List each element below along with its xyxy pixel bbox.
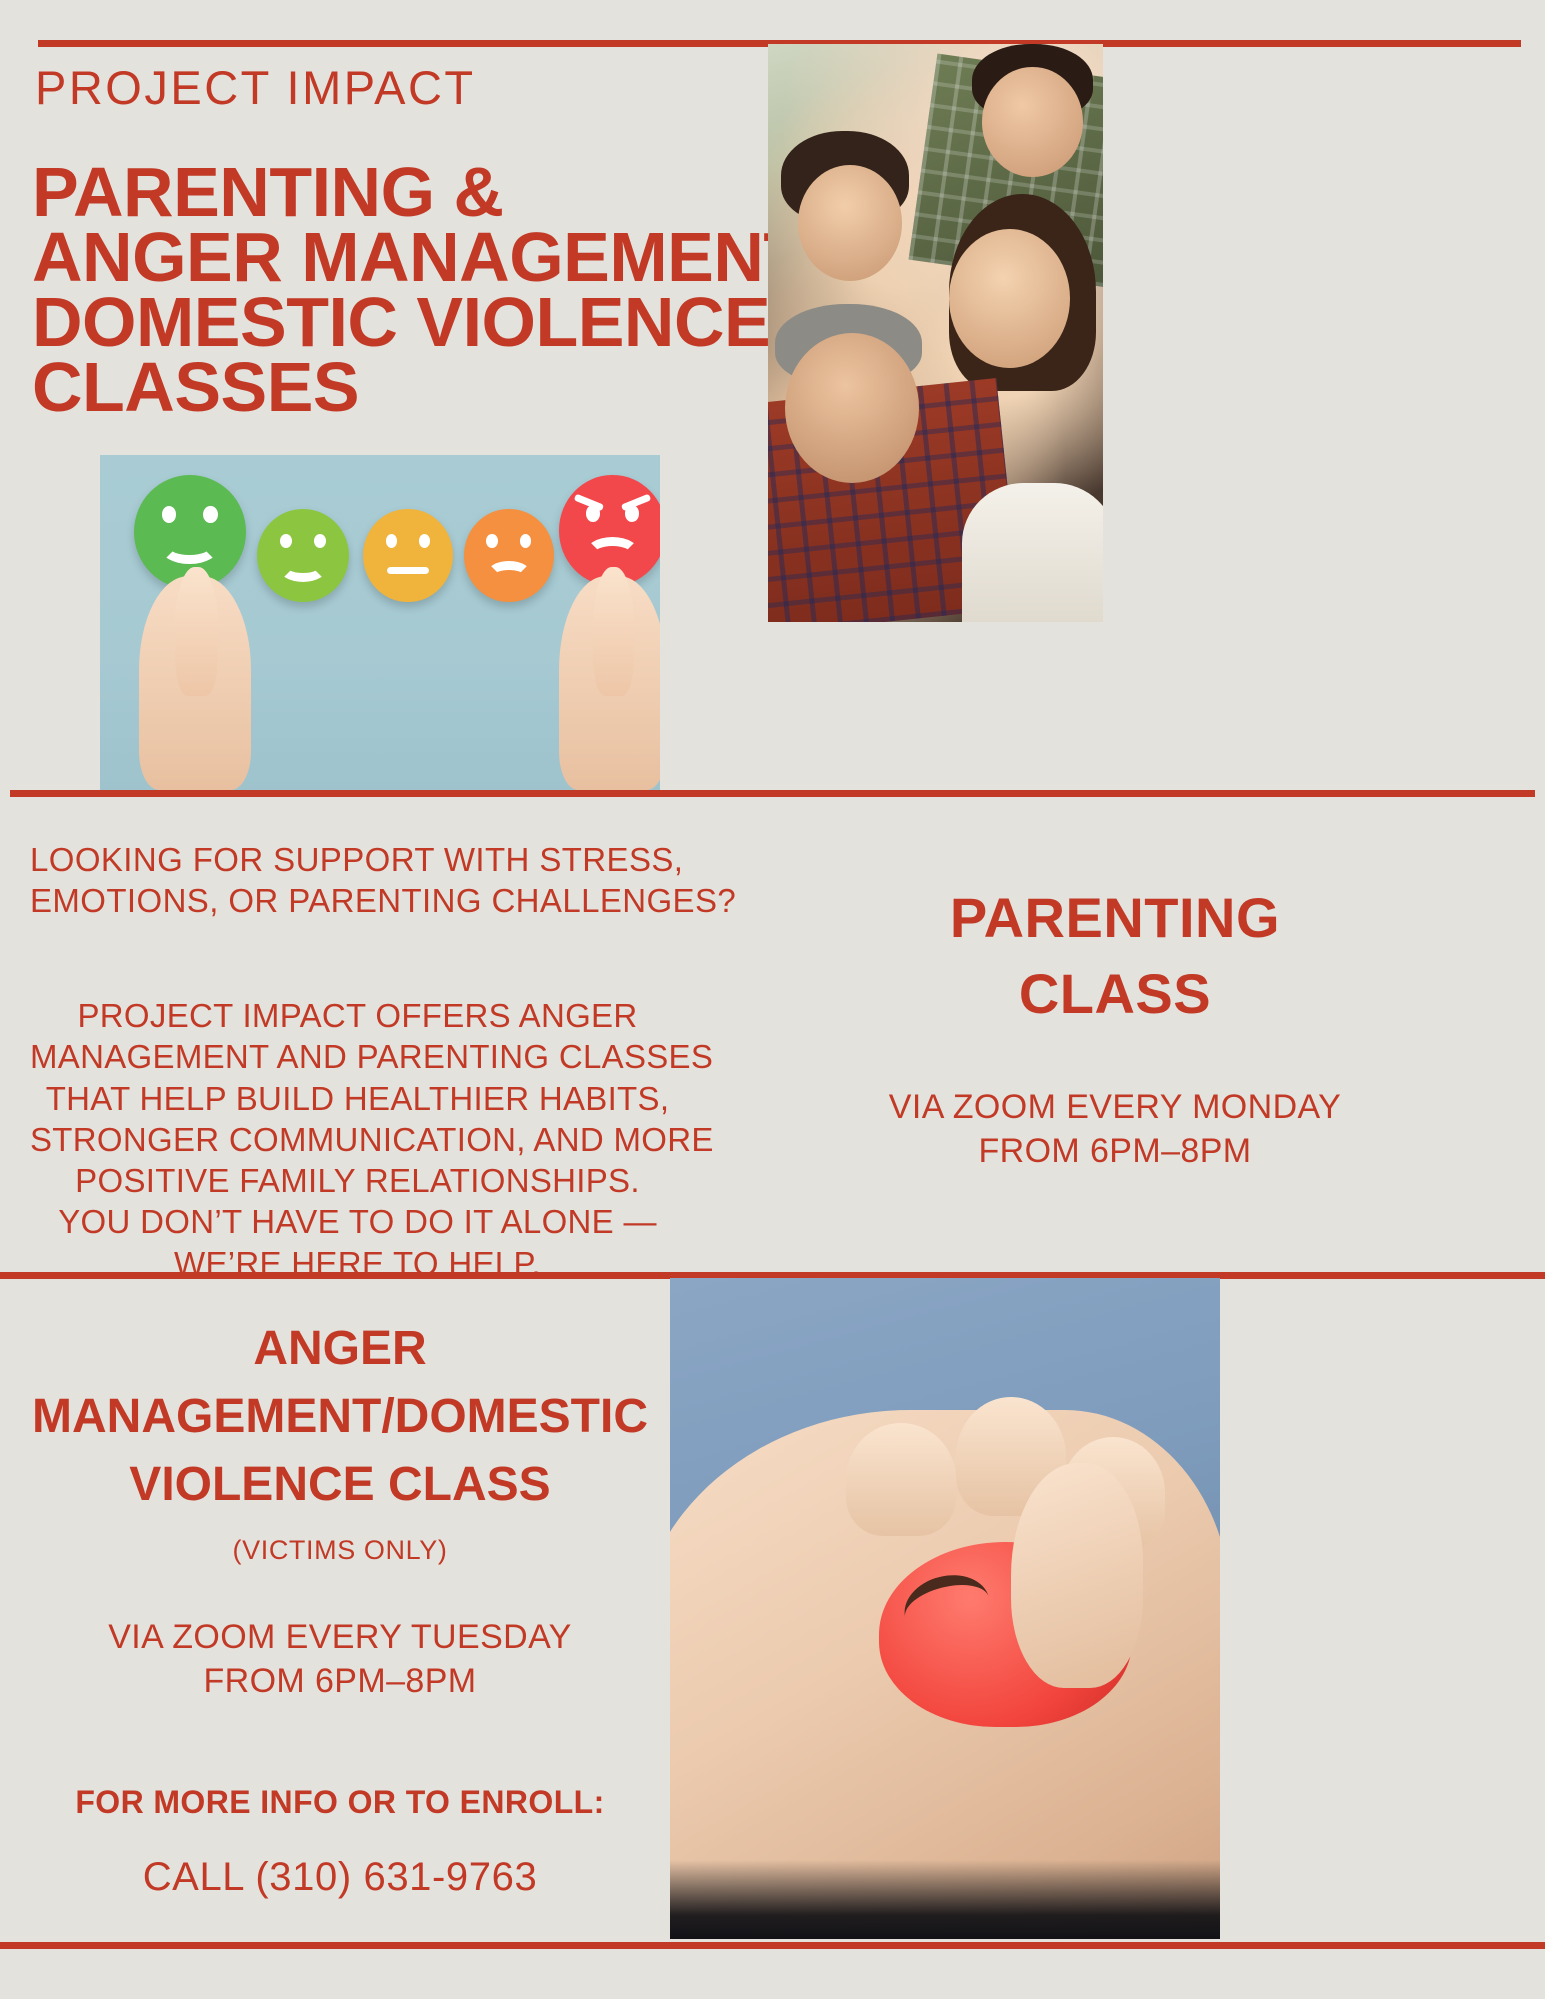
stress-ball-brow-left xyxy=(898,1566,997,1648)
support-question: LOOKING FOR SUPPORT WITH STRESS, EMOTION… xyxy=(30,840,680,922)
anger-class-heading-line-2: MANAGEMENT/DOMESTIC xyxy=(20,1383,660,1451)
page-title: PARENTING & ANGER MANAGEMENT/ DOMESTIC V… xyxy=(32,160,772,420)
anger-class-heading: ANGER MANAGEMENT/DOMESTIC VIOLENCE CLASS xyxy=(20,1315,660,1519)
eye-left xyxy=(386,534,398,548)
index-finger xyxy=(593,567,633,696)
program-description-line-7: WE’RE HERE TO HELP. xyxy=(30,1243,685,1284)
page-title-line-4: CLASSES xyxy=(32,355,772,420)
program-description: PROJECT IMPACT OFFERS ANGER MANAGEMENT A… xyxy=(30,995,685,1284)
organization-kicker: PROJECT IMPACT xyxy=(35,60,476,115)
page-title-line-2: ANGER MANAGEMENT/ xyxy=(32,225,772,290)
sad-face-icon xyxy=(464,509,554,603)
parenting-class-heading-line-1: PARENTING xyxy=(720,880,1510,956)
parenting-class-heading-line-2: CLASS xyxy=(720,956,1510,1032)
mother-sweater xyxy=(962,483,1103,622)
anger-class-schedule-line-2: FROM 6PM–8PM xyxy=(20,1659,660,1703)
divider-middle-upper xyxy=(10,790,1535,797)
family-photo xyxy=(768,44,1103,622)
eye-right xyxy=(625,505,639,522)
eye-left xyxy=(586,505,600,522)
girl-face xyxy=(798,165,902,281)
emoji-rating-photo xyxy=(100,455,660,790)
page-title-line-1: PARENTING & xyxy=(32,160,772,225)
eye-right xyxy=(520,534,532,548)
frown-mouth xyxy=(486,561,533,589)
page-title-line-3: DOMESTIC VIOLENCE xyxy=(32,290,772,355)
parenting-class-schedule: VIA ZOOM EVERY MONDAY FROM 6PM–8PM xyxy=(720,1085,1510,1173)
enroll-label: FOR MORE INFO OR TO ENROLL: xyxy=(20,1784,660,1821)
eye-left xyxy=(486,534,498,548)
anger-class-subtitle: (VICTIMS ONLY) xyxy=(20,1535,660,1566)
mother-face xyxy=(949,229,1070,368)
frown-mouth xyxy=(585,537,640,570)
eye-left xyxy=(162,506,177,523)
program-description-line-3: THAT HELP BUILD HEALTHIER HABITS, xyxy=(30,1078,685,1119)
parenting-class-schedule-line-1: VIA ZOOM EVERY MONDAY xyxy=(720,1085,1510,1129)
stress-ball-photo xyxy=(670,1278,1220,1939)
phone-number[interactable]: CALL (310) 631-9763 xyxy=(20,1855,660,1900)
eye-right xyxy=(419,534,431,548)
knuckle-1 xyxy=(846,1423,956,1535)
program-description-line-4: STRONGER COMMUNICATION, AND MORE xyxy=(30,1119,685,1160)
divider-bottom xyxy=(0,1942,1545,1949)
slightly-happy-face-icon xyxy=(257,509,349,603)
neutral-mouth xyxy=(387,567,428,575)
index-finger xyxy=(175,567,218,696)
anger-class-heading-line-3: VIOLENCE CLASS xyxy=(20,1451,660,1519)
eye-right xyxy=(203,506,218,523)
eye-right xyxy=(314,534,326,548)
thumb xyxy=(1011,1463,1143,1688)
anger-class-schedule: VIA ZOOM EVERY TUESDAY FROM 6PM–8PM xyxy=(20,1615,660,1703)
anger-class-heading-line-1: ANGER xyxy=(20,1315,660,1383)
program-description-line-6: YOU DON’T HAVE TO DO IT ALONE — xyxy=(30,1201,685,1242)
support-question-line-2: EMOTIONS, OR PARENTING CHALLENGES? xyxy=(30,881,680,922)
boy-face xyxy=(982,67,1083,177)
program-description-line-5: POSITIVE FAMILY RELATIONSHIPS. xyxy=(30,1160,685,1201)
parenting-class-schedule-line-2: FROM 6PM–8PM xyxy=(720,1129,1510,1173)
neutral-face-icon xyxy=(363,509,453,603)
anger-class-schedule-line-1: VIA ZOOM EVERY TUESDAY xyxy=(20,1615,660,1659)
right-hand xyxy=(559,576,660,790)
smile-mouth xyxy=(279,554,327,582)
father-face xyxy=(785,333,919,483)
smile-mouth xyxy=(160,530,218,564)
parenting-class-heading: PARENTING CLASS xyxy=(720,880,1510,1031)
left-hand xyxy=(139,576,251,790)
program-description-line-1: PROJECT IMPACT OFFERS ANGER xyxy=(30,995,685,1036)
support-question-line-1: LOOKING FOR SUPPORT WITH STRESS, xyxy=(30,840,680,881)
program-description-line-2: MANAGEMENT AND PARENTING CLASSES xyxy=(30,1036,685,1077)
eye-left xyxy=(280,534,292,548)
photo-bottom-shadow xyxy=(670,1860,1220,1939)
flyer-page: PROJECT IMPACT PARENTING & ANGER MANAGEM… xyxy=(0,0,1545,1999)
